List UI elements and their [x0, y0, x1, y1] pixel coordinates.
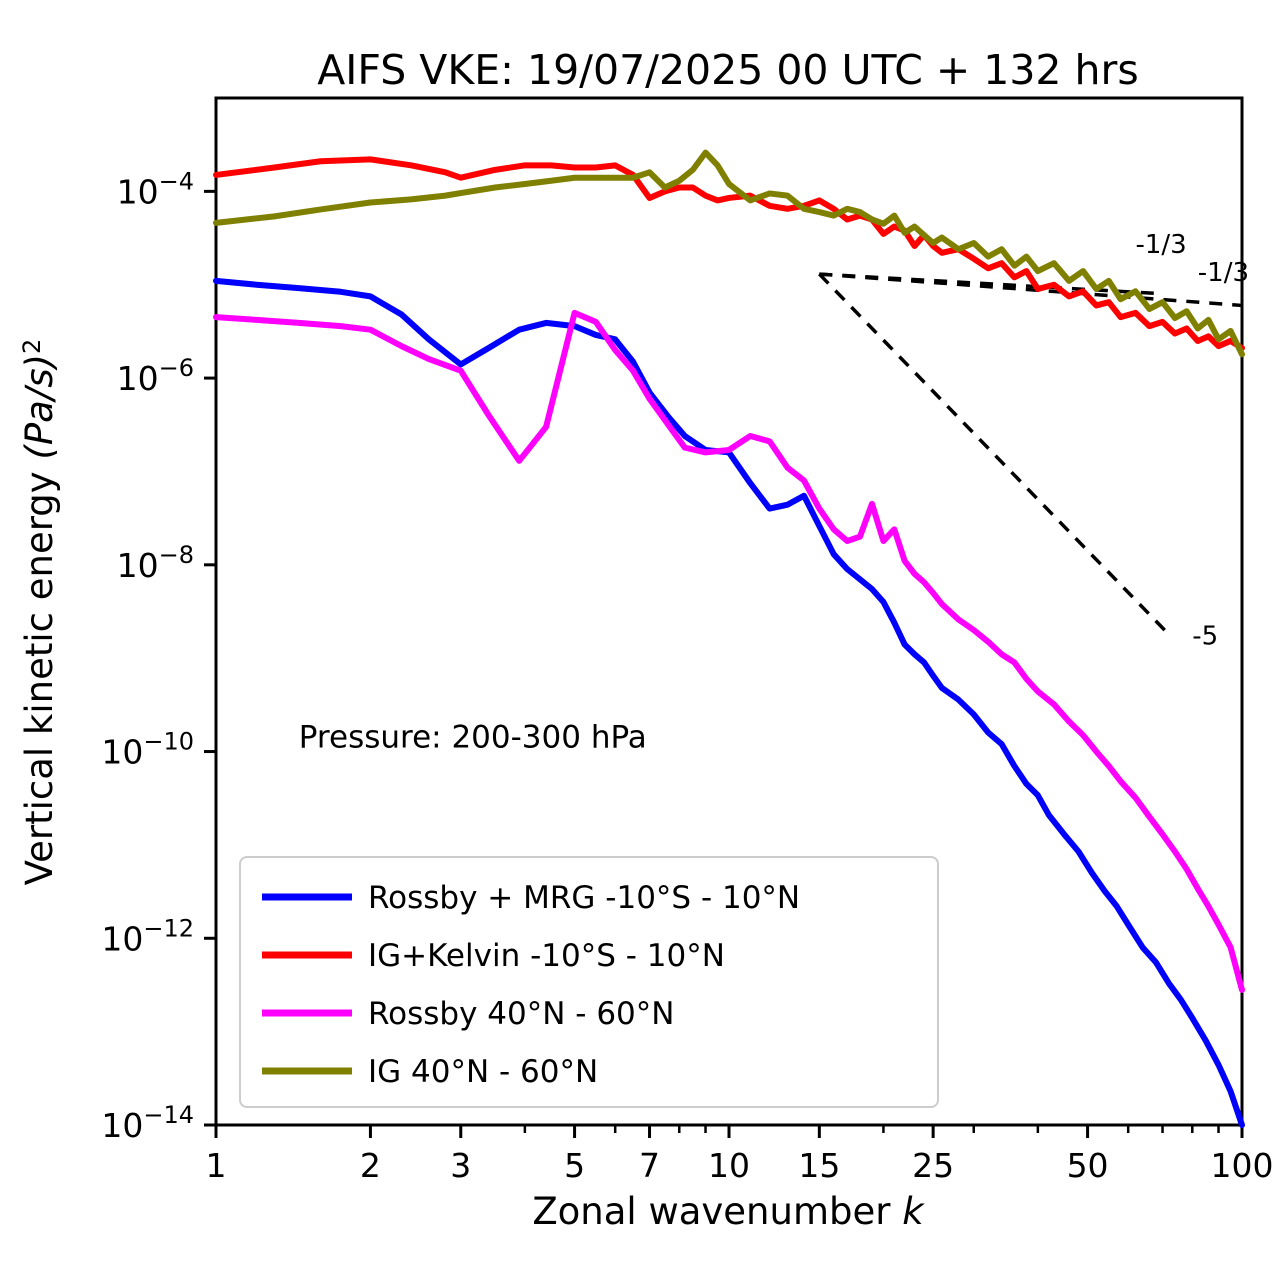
x-tick-label: 100	[1211, 1146, 1274, 1185]
y-tick-label: 10−6	[117, 354, 194, 398]
x-tick-label: 7	[639, 1146, 660, 1185]
x-tick-label: 50	[1067, 1146, 1109, 1185]
y-tick-label: 10−12	[101, 914, 194, 958]
legend-label: IG 40°N - 60°N	[368, 1054, 598, 1090]
chart-legend[interactable]: Rossby + MRG -10°S - 10°NIG+Kelvin -10°S…	[240, 857, 938, 1107]
legend-label: Rossby + MRG -10°S - 10°N	[368, 880, 800, 916]
pressure-note: Pressure: 200-300 hPa	[299, 720, 647, 756]
y-tick-label: 10−10	[101, 728, 194, 772]
x-tick-label: 3	[450, 1146, 471, 1185]
y-axis-label: Vertical kinetic energy (Pa/s)2	[18, 339, 61, 886]
chart-svg: AIFS VKE: 19/07/2025 00 UTC + 132 hrs 10…	[0, 0, 1280, 1288]
slope-label-upper: -1/3	[1135, 230, 1186, 260]
y-tick-label: 10−14	[101, 1101, 194, 1145]
x-tick-label: 10	[708, 1146, 750, 1185]
y-axis-ticks: 10−410−610−810−1010−1210−14	[101, 167, 216, 1145]
slope-label-minus5: -5	[1192, 622, 1218, 652]
legend-label: IG+Kelvin -10°S - 10°N	[368, 938, 725, 974]
x-tick-label: 5	[564, 1146, 585, 1185]
legend-label: Rossby 40°N - 60°N	[368, 996, 674, 1032]
x-tick-label: 1	[206, 1146, 227, 1185]
chart-figure: AIFS VKE: 19/07/2025 00 UTC + 132 hrs 10…	[0, 0, 1280, 1288]
slope-label-lower: -1/3	[1198, 258, 1249, 288]
x-tick-label: 15	[798, 1146, 840, 1185]
chart-title: AIFS VKE: 19/07/2025 00 UTC + 132 hrs	[317, 46, 1138, 94]
y-tick-label: 10−8	[117, 541, 194, 585]
x-tick-label: 2	[360, 1146, 381, 1185]
y-tick-label: 10−4	[117, 167, 194, 211]
x-tick-label: 25	[912, 1146, 954, 1185]
x-axis-ticks: 1235710152550100	[206, 1125, 1274, 1185]
x-axis-label: Zonal wavenumber k	[532, 1190, 925, 1233]
